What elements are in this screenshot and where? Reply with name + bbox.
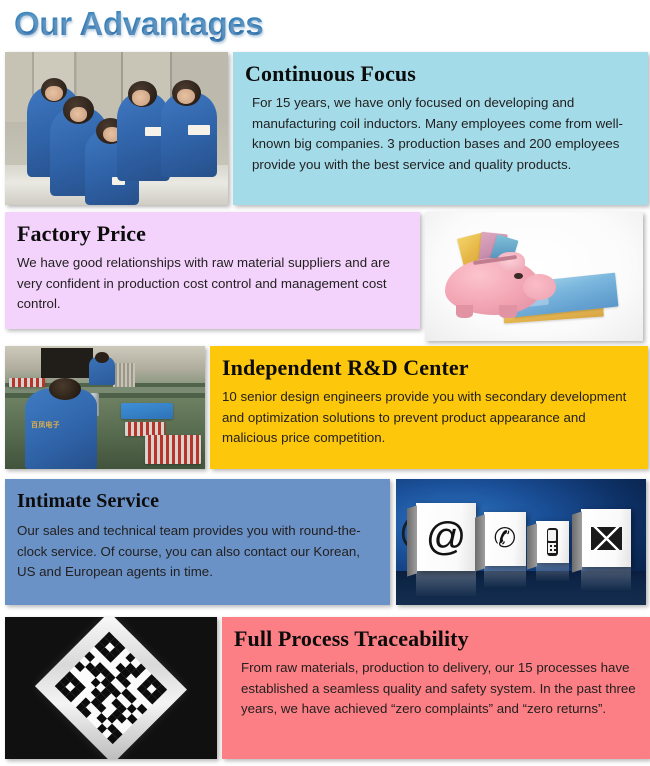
cube-reflection: [416, 571, 476, 596]
cube-side-face: [572, 512, 582, 573]
qr-code-pendant-photo: [5, 617, 217, 759]
uniform-logo: 百凤电子: [31, 422, 60, 430]
foreground-worker-head: [49, 378, 81, 400]
advantage-panel-factory-price: Factory Price We have good relationships…: [5, 212, 420, 329]
advantage-heading: Intimate Service: [17, 488, 378, 514]
piggy-bank-eye: [514, 273, 523, 279]
advantage-body: For 15 years, we have only focused on de…: [245, 93, 636, 175]
advantage-row-independent-rd-center: 百凤电子 Independent R&D Center 10 senior de…: [5, 346, 648, 469]
telephone-handset-icon: ✆: [493, 525, 516, 552]
advantage-heading: Factory Price: [17, 221, 408, 247]
advantage-row-continuous-focus: Continuous Focus For 15 years, we have o…: [5, 52, 648, 205]
mobile-phone-icon: [547, 528, 558, 555]
piggy-bank-euros-photo: [425, 212, 643, 341]
advantage-heading: Continuous Focus: [245, 61, 636, 87]
piggy-bank-snout: [523, 274, 556, 300]
cube-envelope: [581, 509, 631, 567]
qr-code: [55, 632, 168, 745]
assembly-worker-photo: 百凤电子: [5, 346, 205, 469]
worker-face: [45, 86, 63, 101]
advantage-body: Our sales and technical team provides yo…: [17, 521, 378, 583]
cube-side-face: [407, 505, 417, 576]
advantage-panel-intimate-service: Intimate Service Our sales and technical…: [5, 479, 390, 605]
pendant-plate: [35, 617, 187, 759]
advantage-heading: Independent R&D Center: [222, 355, 636, 381]
cube-reflection: [536, 563, 569, 581]
component-tray: [125, 422, 165, 436]
cube-mobile-phone: [536, 521, 569, 564]
at-sign-icon: @: [426, 517, 467, 557]
advantage-row-intimate-service: Intimate Service Our sales and technical…: [5, 479, 646, 605]
workshop-machine: [41, 348, 93, 378]
component-tray: [9, 378, 45, 387]
advantage-heading: Full Process Traceability: [234, 626, 638, 652]
component-tray: [145, 435, 201, 465]
cube-at-sign: @: [416, 503, 476, 571]
piggy-bank-leg: [499, 305, 516, 318]
cube-side-face: [527, 523, 537, 569]
factory-workers-photo: [5, 52, 228, 205]
cube-side-face: [475, 514, 485, 571]
worker-badge: [188, 125, 210, 134]
blue-parts-tray: [121, 403, 173, 419]
piggy-bank-leg: [456, 305, 473, 318]
cube-telephone: ✆: [484, 512, 527, 566]
advantage-panel-full-process-traceability: Full Process Traceability From raw mater…: [222, 617, 650, 759]
cube-reflection: [484, 566, 527, 587]
advantage-row-factory-price: Factory Price We have good relationships…: [5, 212, 643, 341]
advantage-panel-independent-rd-center: Independent R&D Center 10 senior design …: [210, 346, 648, 469]
worker-face: [132, 90, 150, 105]
cube-reflection: [581, 567, 631, 590]
page-title: Our Advantages: [14, 2, 263, 46]
worker-face: [177, 89, 195, 104]
our-advantages-infographic: Our Advantages Continuous: [0, 0, 650, 766]
advantage-body: 10 senior design engineers provide you w…: [222, 387, 636, 449]
advantage-body: We have good relationships with raw mate…: [17, 253, 408, 315]
advantage-panel-continuous-focus: Continuous Focus For 15 years, we have o…: [233, 52, 648, 205]
envelope-icon: [591, 527, 622, 550]
advantage-body: From raw materials, production to delive…: [234, 658, 638, 720]
communication-cubes-photo: @ @ ✆: [396, 479, 646, 605]
advantage-row-full-process-traceability: Full Process Traceability From raw mater…: [5, 617, 650, 759]
